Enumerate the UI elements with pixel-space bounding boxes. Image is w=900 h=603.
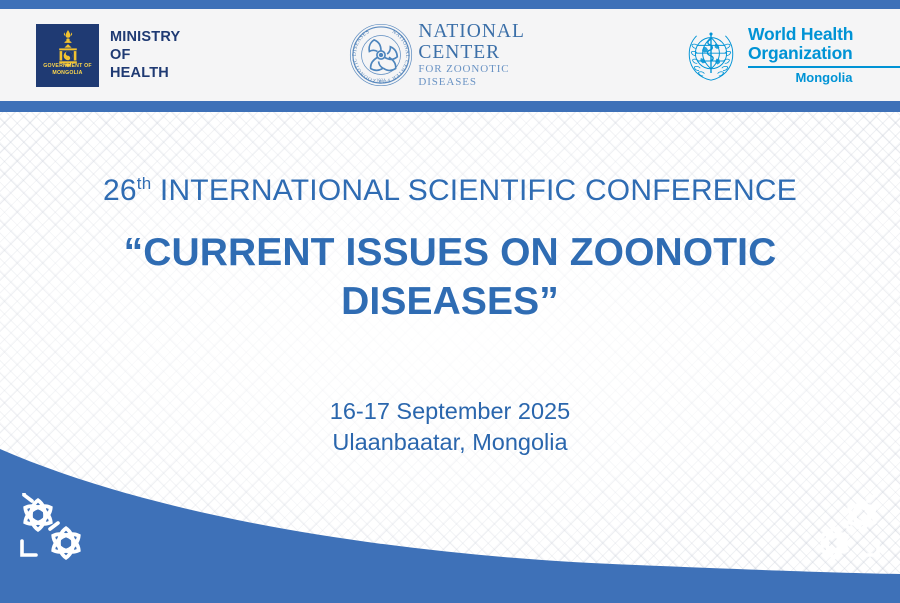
conference-theme-line-2: DISEASES” [0, 277, 900, 326]
who-name-line-1: World Health [748, 25, 900, 45]
crest-line-2: MONGOLIA [52, 70, 82, 76]
ministry-name-line-1: MINISTRY [110, 28, 180, 46]
wave-shape [0, 449, 900, 603]
who-logo: World Health Organization Mongolia [681, 25, 900, 85]
who-name: World Health Organization Mongolia [748, 25, 900, 85]
mongolian-ulzii-knot-icon [14, 493, 100, 565]
who-emblem-icon [681, 25, 741, 85]
ministry-name-line-2: OF HEALTH [110, 46, 180, 82]
conference-heading: 26th INTERNATIONAL SCIENTIFIC CONFERENCE [0, 174, 900, 208]
who-country: Mongolia [748, 70, 900, 85]
national-center-logo: NATIONAL CENTER FOR ZOONOTIC DISEASES 19… [348, 21, 531, 89]
mongolian-ulzii-knot-icon [800, 493, 886, 565]
who-divider [748, 66, 900, 68]
crest-caption: GOVERNMENT OF MONGOLIA [36, 63, 99, 77]
national-center-name-line-1: NATIONAL CENTER [418, 21, 531, 63]
top-accent-bar [0, 0, 900, 9]
crest-line-1: GOVERNMENT OF [43, 63, 91, 69]
event-date: 16-17 September 2025 [0, 396, 900, 427]
biohazard-seal-icon: NATIONAL CENTER FOR ZOONOTIC DISEASES 19… [348, 22, 414, 88]
conference-number: 26 [103, 174, 137, 207]
mongolia-government-crest: GOVERNMENT OF MONGOLIA [36, 24, 99, 87]
slide-body: 26th INTERNATIONAL SCIENTIFIC CONFERENCE… [0, 112, 900, 458]
blue-wave-decoration [0, 443, 900, 603]
logo-row: GOVERNMENT OF MONGOLIA MINISTRY OF HEALT… [0, 9, 900, 101]
conference-ordinal-suffix: th [137, 174, 152, 193]
conference-theme: “CURRENT ISSUES ON ZOONOTIC DISEASES” [0, 228, 900, 326]
ministry-of-health-logo: GOVERNMENT OF MONGOLIA MINISTRY OF HEALT… [36, 24, 180, 87]
who-name-line-2: Organization [748, 44, 900, 64]
national-center-name: NATIONAL CENTER FOR ZOONOTIC DISEASES [418, 21, 531, 89]
national-center-name-line-2: FOR ZOONOTIC DISEASES [418, 63, 531, 89]
conference-heading-text: INTERNATIONAL SCIENTIFIC CONFERENCE [151, 174, 797, 207]
conference-theme-line-1: “CURRENT ISSUES ON ZOONOTIC [0, 228, 900, 277]
header-divider-bar [0, 101, 900, 112]
svg-text:1931: 1931 [376, 77, 386, 82]
ministry-name: MINISTRY OF HEALTH [110, 28, 180, 82]
conference-title-slide: GOVERNMENT OF MONGOLIA MINISTRY OF HEALT… [0, 0, 900, 603]
